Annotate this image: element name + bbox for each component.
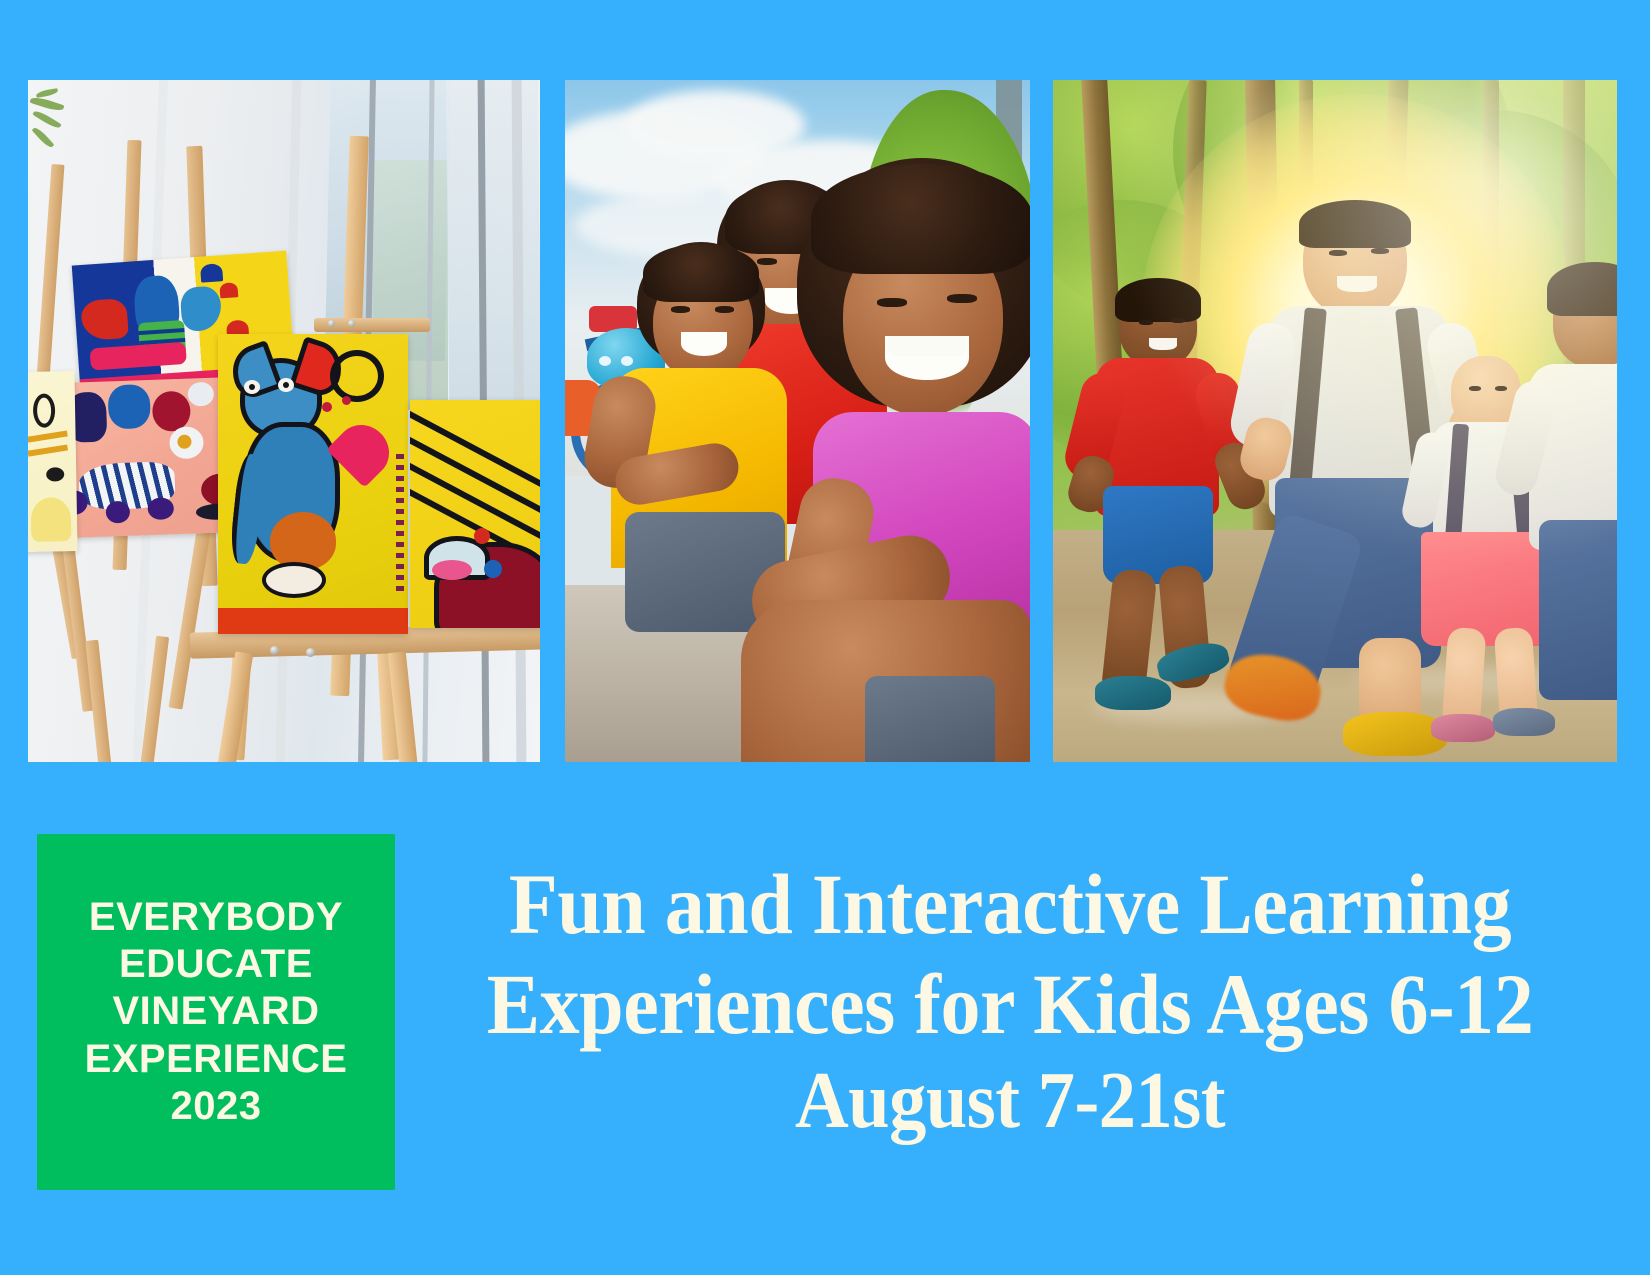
badge-line-4: EXPERIENCE: [85, 1036, 348, 1083]
plant-leaves-icon: [30, 94, 80, 164]
painting-blue-cat-heart: [218, 334, 408, 634]
badge-line-3: VINEYARD: [85, 988, 348, 1035]
painting-music-notes: [28, 371, 78, 553]
badge-line-1: EVERYBODY: [85, 894, 348, 941]
headline-line-1: Fun and Interactive Learning: [452, 855, 1568, 955]
headline-line-2: Experiences for Kids Ages 6-12: [452, 955, 1568, 1055]
badge-line-2: EDUCATE: [85, 941, 348, 988]
photo-art-easels: [28, 80, 540, 762]
photo-smiling-kids: [565, 80, 1030, 762]
photo-kids-running: [1053, 80, 1617, 762]
badge-line-5: 2023: [85, 1083, 348, 1130]
headline-block: Fun and Interactive Learning Experiences…: [452, 855, 1568, 1147]
headline-date-line: August 7-21st: [452, 1055, 1568, 1148]
painting-yellow-stripes: [410, 400, 540, 628]
event-logo-badge: EVERYBODY EDUCATE VINEYARD EXPERIENCE 20…: [37, 834, 395, 1190]
badge-text-block: EVERYBODY EDUCATE VINEYARD EXPERIENCE 20…: [79, 894, 354, 1130]
poster-canvas: EVERYBODY EDUCATE VINEYARD EXPERIENCE 20…: [0, 0, 1650, 1275]
photo-strip: [28, 80, 1617, 762]
